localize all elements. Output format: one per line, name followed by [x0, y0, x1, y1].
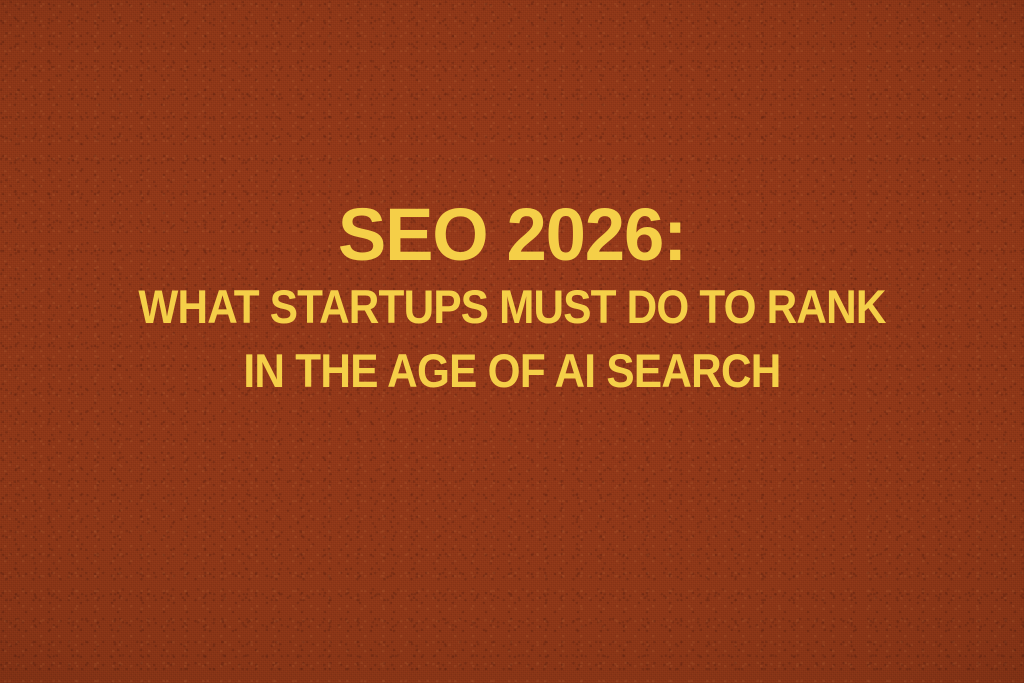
hero-banner: SEO 2026: WHAT STARTUPS MUST DO TO RANK …	[0, 0, 1024, 683]
headline-line-2: WHAT STARTUPS MUST DO TO RANK	[51, 274, 973, 339]
headline-line-1: SEO 2026:	[10, 196, 1014, 274]
headline-line-3: IN THE AGE OF AI SEARCH	[51, 339, 973, 403]
headline-block: SEO 2026: WHAT STARTUPS MUST DO TO RANK …	[0, 196, 1024, 403]
